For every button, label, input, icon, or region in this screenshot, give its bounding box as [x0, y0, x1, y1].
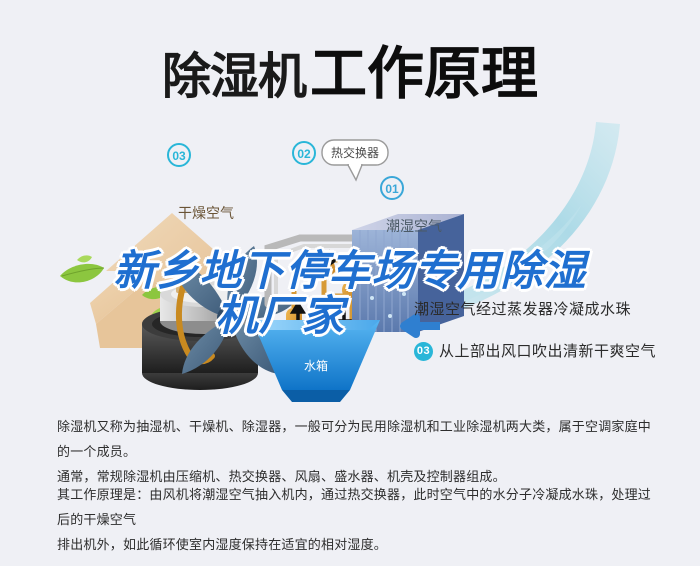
paragraph-principle-line-1: 其工作原理是：由风机将潮湿空气抽入机内，通过热交换器，此时空气中的水分子冷凝成水…: [57, 482, 657, 532]
paragraph-definition-line-1: 除湿机又称为抽湿机、干燥机、除湿器，一般可分为民用除湿机和工业除湿机两大类，属于…: [57, 414, 657, 464]
badge-02-heat-exchanger: 02: [297, 147, 311, 161]
paragraph-definition: 除湿机又称为抽湿机、干燥机、除湿器，一般可分为民用除湿机和工业除湿机两大类，属于…: [57, 414, 657, 489]
page-title-part-b: 工作原理: [310, 42, 538, 106]
dry-air-label-group: 03 干燥空气: [168, 144, 234, 221]
heat-exchanger-label-group: 02 热交换器: [293, 140, 388, 180]
water-tank-label: 水箱: [304, 358, 328, 373]
note-outlet: 03从上部出风口吹出清新干爽空气: [414, 340, 656, 361]
page-root: 除湿机工作原理: [0, 0, 700, 566]
note-outlet-text: 从上部出风口吹出清新干爽空气: [439, 343, 656, 360]
page-title-part-a: 除湿机: [162, 50, 306, 104]
badge-03-dry-air: 03: [172, 149, 186, 163]
humid-air-text: 潮湿空气: [386, 218, 442, 234]
humid-air-label-group: 01 潮湿空气: [381, 177, 442, 234]
dry-air-text: 干燥空气: [178, 205, 234, 221]
water-tank: 水箱: [252, 320, 380, 402]
note-condensation: 潮湿空气经过蒸发器冷凝成水珠: [414, 298, 631, 319]
paragraph-principle-line-2: 排出机外，如此循环使室内湿度保持在适宜的相对湿度。: [57, 532, 657, 557]
badge-03-outlet: 03: [414, 342, 433, 361]
badge-01-humid-air: 01: [385, 182, 399, 196]
paragraph-principle: 其工作原理是：由风机将潮湿空气抽入机内，通过热交换器，此时空气中的水分子冷凝成水…: [57, 482, 657, 557]
page-title: 除湿机工作原理: [0, 28, 700, 110]
heat-exchanger-text: 热交换器: [331, 145, 379, 160]
note-condensation-text: 潮湿空气经过蒸发器冷凝成水珠: [414, 301, 631, 318]
